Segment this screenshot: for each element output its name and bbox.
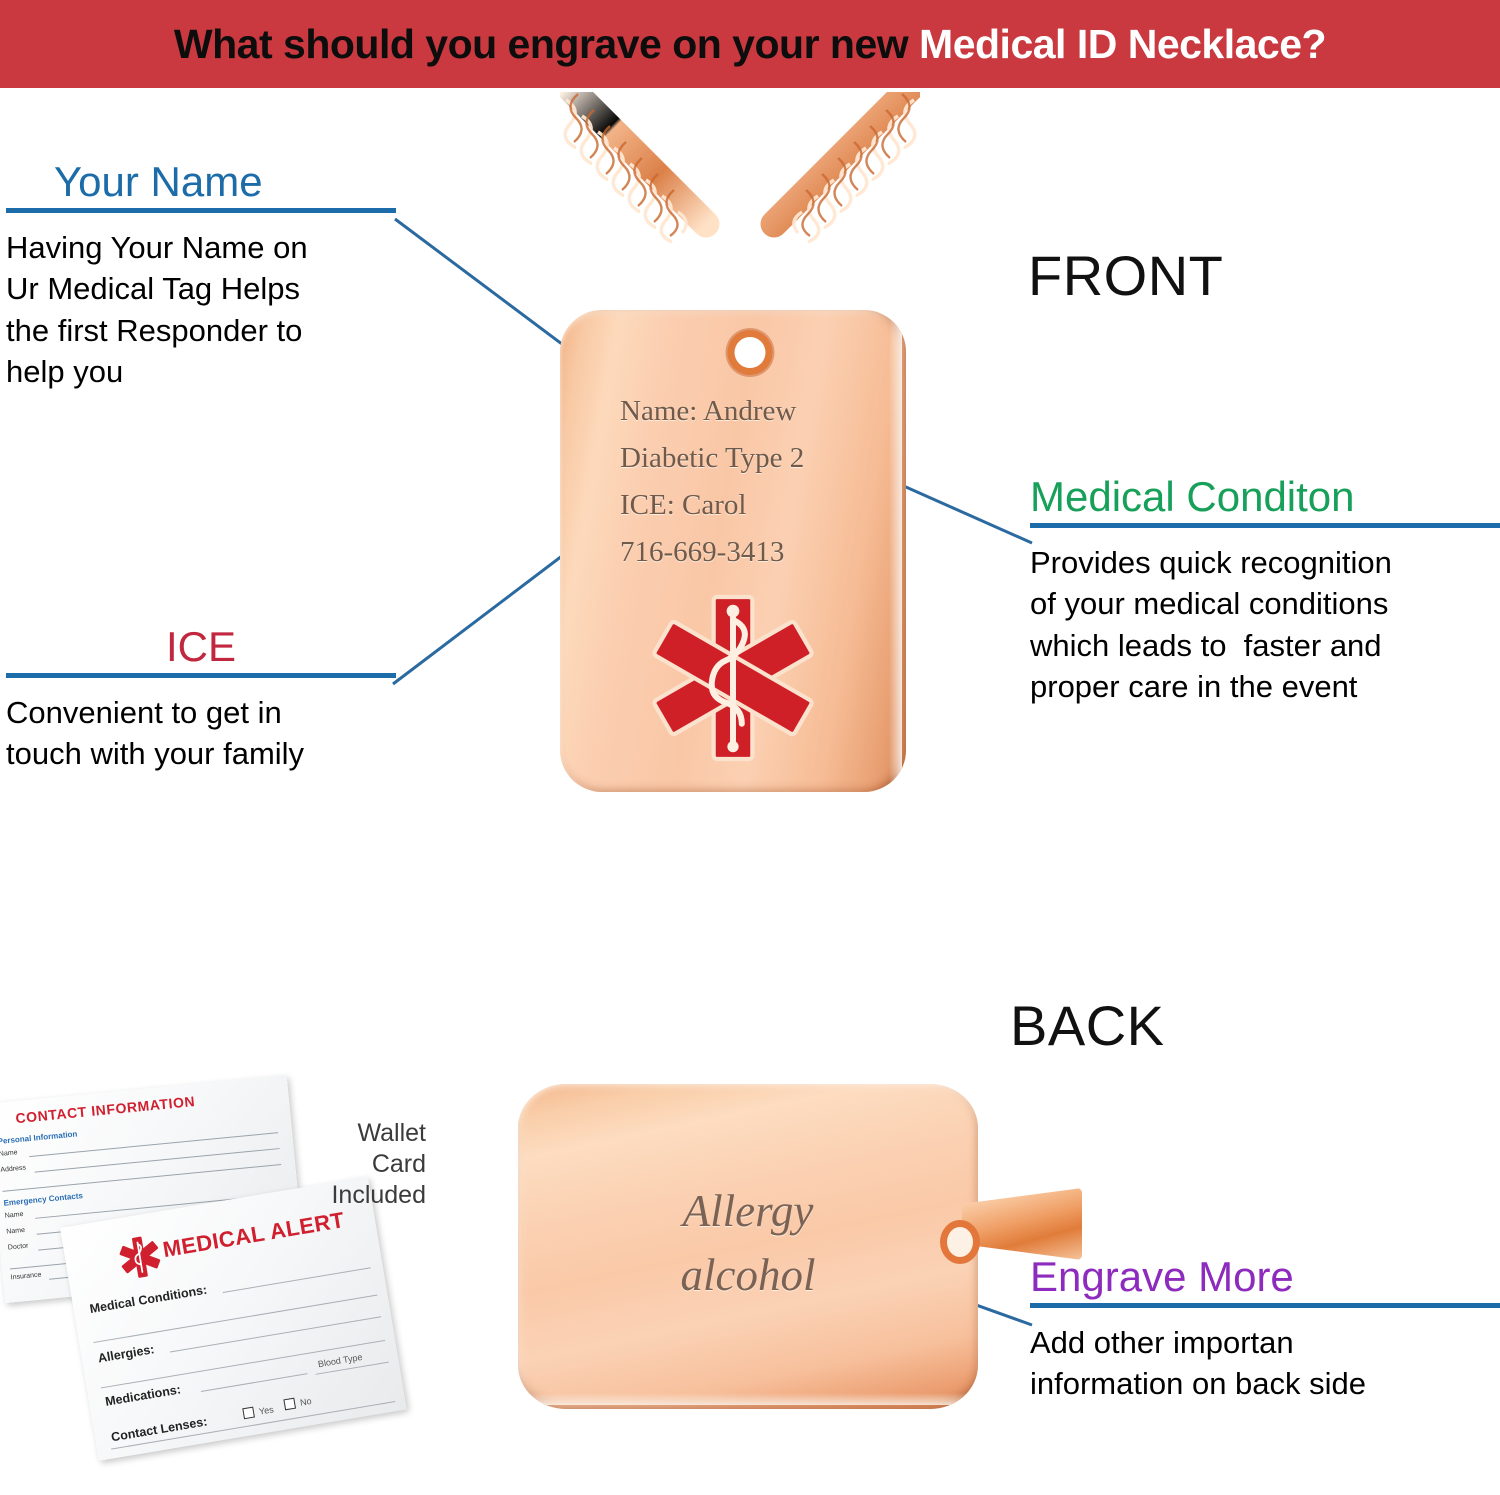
necklace-chain (560, 92, 920, 332)
star-of-life-icon (645, 590, 821, 766)
back-engraving-line-2: alcohol (518, 1244, 978, 1308)
alert-field-medical-conditions: Medical Conditions: (89, 1283, 208, 1316)
contact-rule (2, 1164, 281, 1192)
back-engraving: Allergy alcohol (518, 1180, 978, 1308)
wallet-card-note: Wallet Card Included (300, 1118, 426, 1211)
alert-label-no: No (299, 1396, 312, 1408)
chain-graphic (560, 92, 920, 332)
alert-card-star-of-life-icon (115, 1232, 166, 1283)
contact-card-title: CONTACT INFORMATION (15, 1093, 196, 1126)
callout-your-name-title: Your Name (6, 160, 396, 204)
contact-field-insurance: Insurance (10, 1271, 41, 1281)
back-pendant-tag: Allergy alcohol (518, 1084, 978, 1409)
header-banner: What should you engrave on your new Medi… (0, 0, 1500, 88)
front-engraving: Name: Andrew Diabetic Type 2 ICE: Carol … (620, 388, 892, 576)
callout-your-name: Your Name Having Your Name on Ur Medical… (6, 160, 396, 392)
callout-your-name-rule (6, 208, 396, 213)
contact-section-personal: Personal Information (0, 1129, 78, 1146)
engraving-line-ice: ICE: Carol (620, 482, 892, 529)
contact-section-emergency: Emergency Contacts (3, 1191, 83, 1208)
back-pendant-bail (962, 1188, 1082, 1260)
callout-ice-title: ICE (6, 625, 396, 669)
callout-engrave-more-title: Engrave More (1030, 1255, 1500, 1299)
callout-engrave-more: Engrave More Add other importan informat… (1030, 1255, 1500, 1405)
front-label: FRONT (1028, 243, 1223, 308)
alert-card-title: MEDICAL ALERT (161, 1207, 346, 1263)
contact-field-name-3: Name (6, 1227, 25, 1236)
alert-rule (223, 1267, 371, 1293)
infographic-canvas: What should you engrave on your new Medi… (0, 0, 1500, 1495)
alert-checkbox-yes[interactable] (242, 1407, 255, 1420)
back-label: BACK (1010, 993, 1165, 1058)
callout-engrave-more-body: Add other importan information on back s… (1030, 1322, 1500, 1404)
callout-medical-condition-title: Medical Conditon (1030, 475, 1500, 519)
front-tag-hole (735, 337, 766, 368)
banner-title: What should you engrave on your new Medi… (174, 21, 1326, 68)
callout-medical-condition-rule (1030, 523, 1500, 528)
banner-title-light: Medical ID Necklace? (919, 21, 1326, 67)
alert-rule (201, 1373, 308, 1392)
engraving-line-phone: 716-669-3413 (620, 529, 892, 576)
alert-field-allergies: Allergies: (97, 1342, 155, 1365)
callout-your-name-body: Having Your Name on Ur Medical Tag Helps… (6, 227, 396, 392)
medical-alert-card: MEDICAL ALERT Medical Conditions: Allerg… (60, 1177, 407, 1461)
contact-field-name-1: Name (0, 1149, 18, 1158)
callout-medical-condition: Medical Conditon Provides quick recognit… (1030, 475, 1500, 707)
engraving-line-condition: Diabetic Type 2 (620, 435, 892, 482)
banner-title-dark: What should you engrave on your new (174, 21, 919, 67)
alert-label-yes: Yes (258, 1404, 274, 1416)
alert-field-medications: Medications: (104, 1382, 182, 1408)
back-tag-hole (947, 1227, 973, 1257)
alert-checkbox-no[interactable] (283, 1398, 296, 1411)
callout-medical-condition-body: Provides quick recognition of your medic… (1030, 542, 1500, 707)
back-engraving-line-1: Allergy (518, 1180, 978, 1244)
callout-ice-body: Convenient to get in touch with your fam… (6, 692, 396, 774)
engraving-line-name: Name: Andrew (620, 388, 892, 435)
contact-field-doctor: Doctor (8, 1243, 29, 1252)
alert-rule (170, 1316, 381, 1353)
callout-ice: ICE Convenient to get in touch with your… (6, 625, 396, 775)
callout-ice-rule (6, 673, 396, 678)
callout-engrave-more-rule (1030, 1303, 1500, 1308)
contact-field-address: Address (0, 1164, 26, 1173)
contact-field-name-2: Name (5, 1211, 24, 1220)
front-pendant-tag: Name: Andrew Diabetic Type 2 ICE: Carol … (560, 310, 906, 792)
